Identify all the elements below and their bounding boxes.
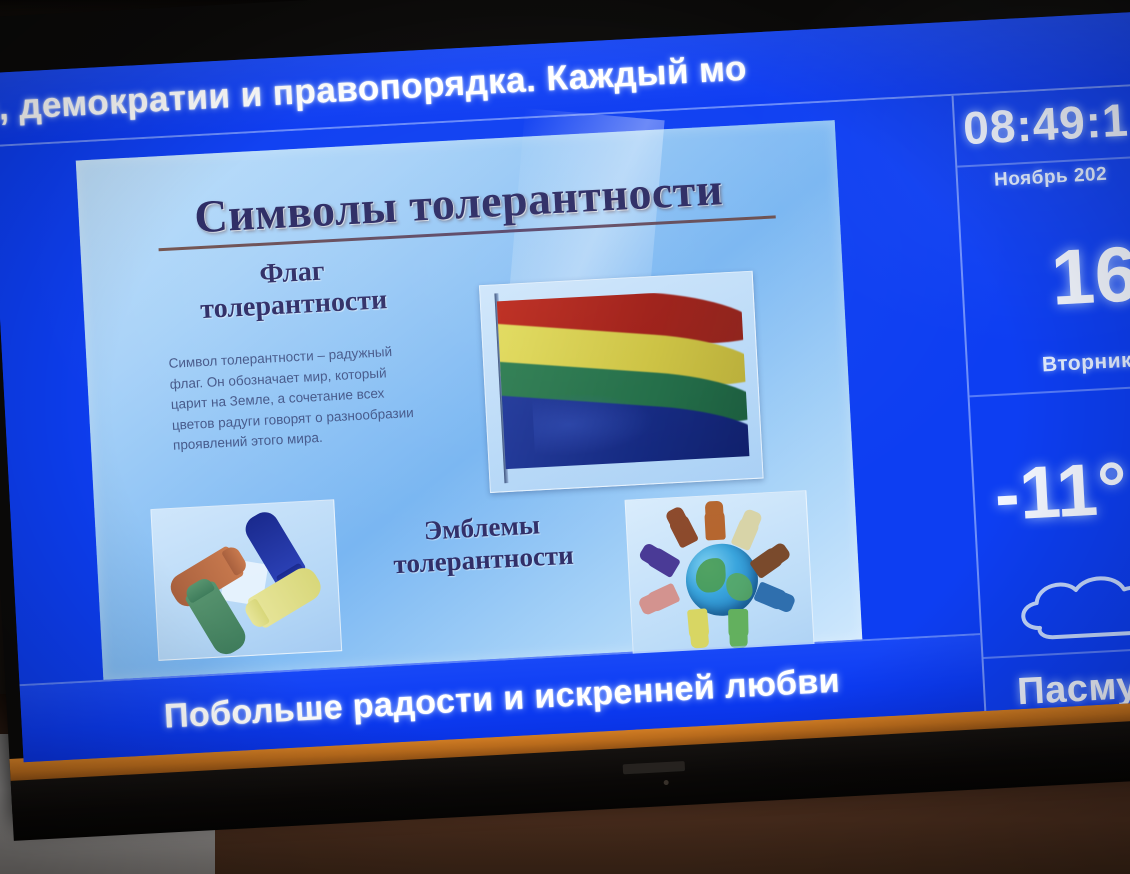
cloud-icon: [1007, 562, 1130, 649]
flag-heading: Флаг толерантности: [141, 249, 444, 328]
globe-hand-6: [645, 583, 681, 614]
temperature-display: -11°: [973, 442, 1130, 539]
globe-hand-9: [728, 609, 749, 639]
globe-hand-1: [704, 510, 726, 541]
rainbow-flag-image: [479, 271, 764, 493]
clock-display: 08:49:1: [954, 91, 1130, 156]
globe-hands-emblem: [625, 490, 815, 661]
emblem-caption: Эмблемы толерантности: [357, 505, 608, 583]
globe-hand-7: [753, 581, 788, 611]
day-number: 16: [961, 222, 1130, 328]
slide-region: Символы толерантности Флаг толерантности…: [0, 96, 980, 686]
presentation-slide: Символы толерантности Флаг толерантности…: [76, 120, 863, 680]
photo-scene: ма, демократии и правопорядка. Каждый мо…: [0, 0, 1130, 874]
tv-screen: ма, демократии и правопорядка. Каждый мо…: [0, 11, 1130, 762]
globe-hand-8: [687, 608, 710, 640]
globe-hand-2: [668, 513, 699, 549]
slide-body-text: Символ толерантности – радужный флаг. Он…: [168, 340, 429, 456]
television: ма, демократии и правопорядка. Каждый мо…: [0, 0, 1130, 817]
sidebar-divider-2: [969, 385, 1130, 398]
globe-hand-4: [645, 546, 681, 579]
globe-icon: [684, 542, 760, 618]
flag-cloth: [497, 288, 750, 469]
flag-fold-shadow: [532, 389, 655, 457]
four-hands-emblem: [150, 499, 342, 661]
sidebar-divider-3: [983, 646, 1130, 659]
slide-title: Символы толерантности: [78, 156, 840, 249]
weekday-label: Вторник: [967, 343, 1130, 382]
